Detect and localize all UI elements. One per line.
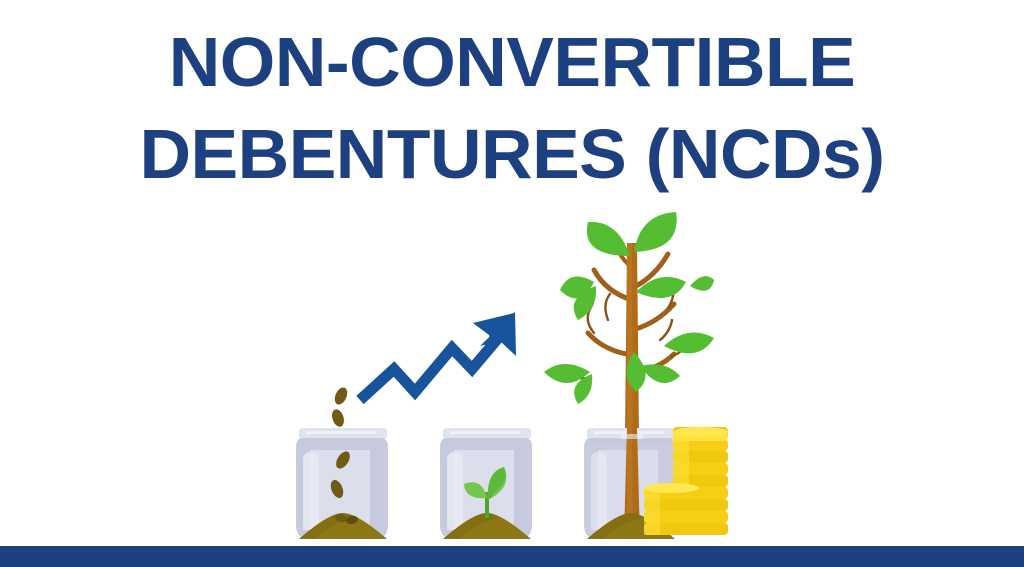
title-line-2: DEBENTURES (NCDs) bbox=[0, 108, 1024, 200]
tree-leaves bbox=[544, 212, 714, 404]
slide-canvas: NON-CONVERTIBLE DEBENTURES (NCDs) bbox=[0, 0, 1024, 567]
growth-arrow-icon bbox=[360, 312, 516, 400]
jar-tree bbox=[544, 212, 714, 539]
page-title: NON-CONVERTIBLE DEBENTURES (NCDs) bbox=[0, 16, 1024, 200]
jar-sprout bbox=[440, 428, 532, 539]
tree-trunk bbox=[624, 243, 640, 535]
coin-stack-short bbox=[644, 483, 699, 535]
bottom-accent-bar bbox=[0, 546, 1024, 567]
jar-seed bbox=[296, 386, 388, 539]
coin-stack-tall bbox=[673, 427, 728, 535]
sprout-icon bbox=[464, 467, 506, 518]
tree-branches bbox=[566, 234, 690, 378]
falling-seed-icon bbox=[330, 386, 350, 429]
title-line-1: NON-CONVERTIBLE bbox=[0, 16, 1024, 108]
